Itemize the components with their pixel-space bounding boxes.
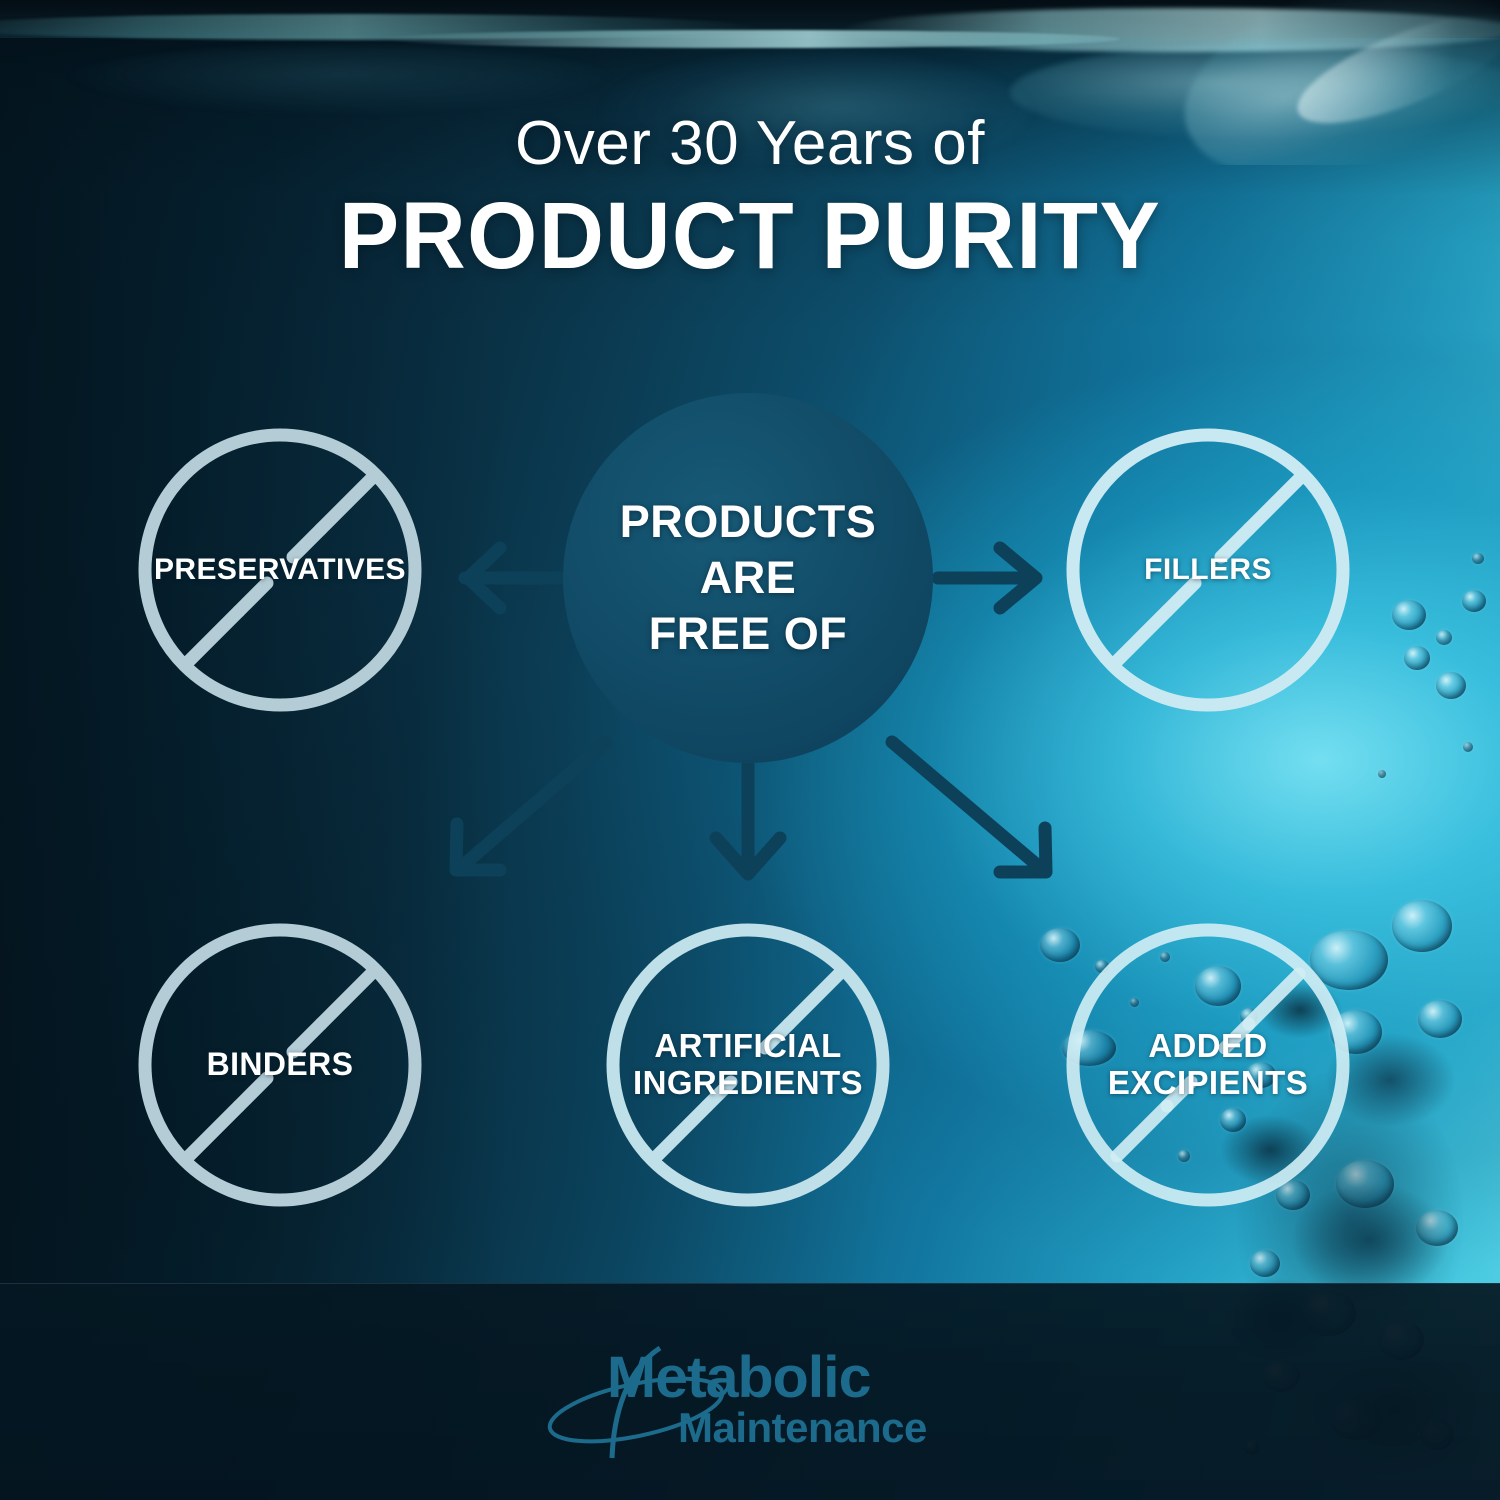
hub-label: PRODUCTS ARE FREE OF xyxy=(620,494,877,661)
brand-logo-line2: Maintenance xyxy=(678,1407,927,1449)
node-label-line2: INGREDIENTS xyxy=(633,1065,863,1102)
node-fillers[interactable]: FILLERS xyxy=(1063,425,1353,715)
node-binders[interactable]: BINDERS xyxy=(135,920,425,1210)
node-label-line1: ARTIFICIAL xyxy=(633,1028,863,1065)
header: Over 30 Years of PRODUCT PURITY xyxy=(0,112,1500,287)
node-label: BINDERS xyxy=(207,1047,354,1083)
node-label: ADDED EXCIPIENTS xyxy=(1108,1028,1308,1102)
page-title: PRODUCT PURITY xyxy=(38,187,1463,287)
node-label-line1: FILLERS xyxy=(1144,553,1272,586)
brand-logo-line1: Metabolic xyxy=(607,1350,930,1405)
page-subtitle: Over 30 Years of xyxy=(0,112,1500,175)
hub-label-line1: PRODUCTS xyxy=(620,494,877,550)
infographic-canvas: Over 30 Years of PRODUCT PURITY xyxy=(0,0,1500,1500)
node-artificial-ingredients[interactable]: ARTIFICIAL INGREDIENTS xyxy=(603,920,893,1210)
node-added-excipients[interactable]: ADDED EXCIPIENTS xyxy=(1063,920,1353,1210)
node-label-line1: BINDERS xyxy=(207,1046,354,1082)
hub-label-line2: ARE xyxy=(620,550,877,606)
node-label: PRESERVATIVES xyxy=(154,553,406,587)
node-label-line1: PRESERVATIVES xyxy=(154,553,406,586)
node-label-line2: EXCIPIENTS xyxy=(1108,1065,1308,1102)
brand-logo[interactable]: Metabolic Maintenance xyxy=(0,1340,1500,1475)
node-label: FILLERS xyxy=(1144,553,1272,587)
node-label: ARTIFICIAL INGREDIENTS xyxy=(633,1028,863,1102)
brand-logo-text: Metabolic Maintenance xyxy=(610,1350,927,1449)
node-preservatives[interactable]: PRESERVATIVES xyxy=(135,425,425,715)
hub-label-line3: FREE OF xyxy=(620,606,877,662)
node-label-line1: ADDED xyxy=(1108,1028,1308,1065)
hub-products-are-free-of[interactable]: PRODUCTS ARE FREE OF xyxy=(563,393,933,763)
